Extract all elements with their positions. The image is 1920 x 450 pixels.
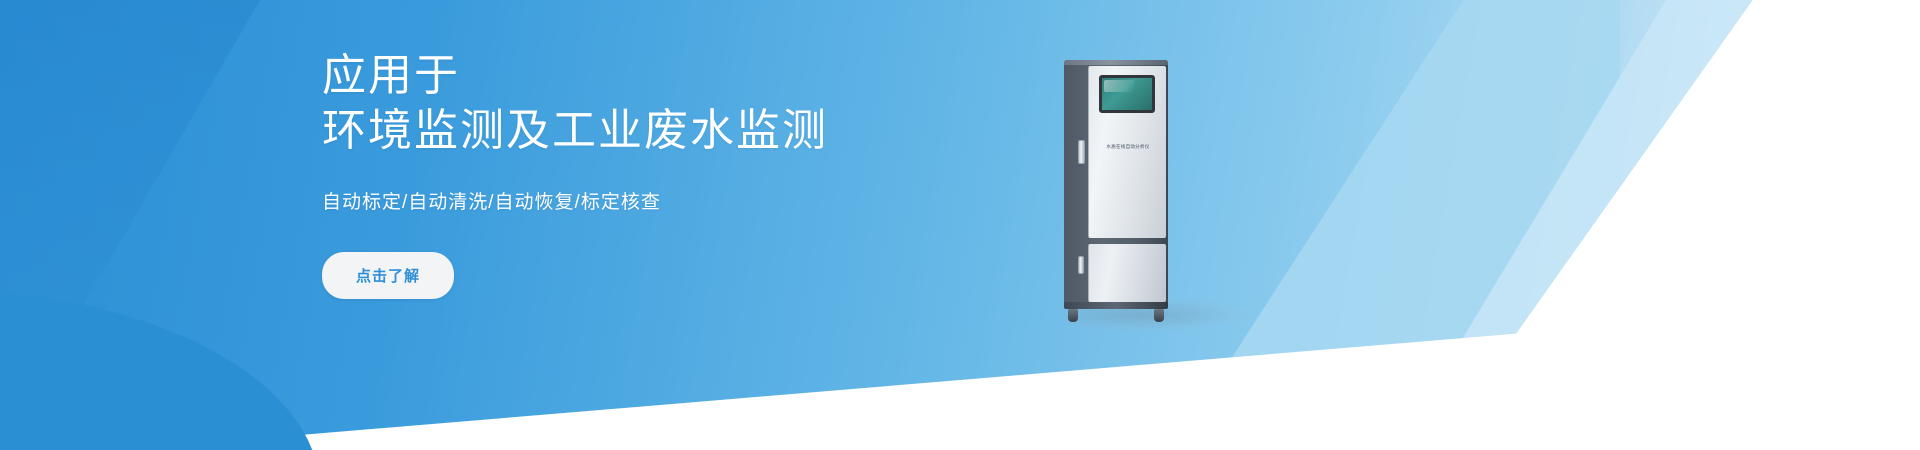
device-caster-left [1068,309,1078,322]
background-shape-bottom-curve [0,290,320,450]
headline-line-1: 应用于 [322,48,1082,103]
hero-banner: 应用于 环境监测及工业废水监测 自动标定/自动清洗/自动恢复/标定核查 点击了解… [0,0,1920,450]
device-display-screen [1099,75,1155,113]
device-upper-handle [1078,140,1085,164]
device-label-text: 水质在线自动分析仪 [1093,144,1163,150]
device-base [1064,302,1168,309]
learn-more-button[interactable]: 点击了解 [322,252,454,299]
background-shape-bottom-white [0,300,1920,450]
device-caster-right [1154,309,1164,322]
background-shape-diagonal-white [1160,0,1920,450]
background-shape-diagonal-pale-2 [1250,0,1770,450]
page-title: 应用于 环境监测及工业废水监测 [322,48,1082,159]
device-upper-door: 水质在线自动分析仪 [1088,66,1166,238]
device-lower-handle [1078,256,1084,274]
banner-content: 应用于 环境监测及工业废水监测 自动标定/自动清洗/自动恢复/标定核查 点击了解 [322,48,1082,299]
headline-line-2: 环境监测及工业废水监测 [322,103,1082,158]
screen-glare [1104,80,1134,92]
banner-subtitle: 自动标定/自动清洗/自动恢复/标定核查 [322,187,1082,214]
device-lower-door [1088,244,1166,302]
product-image-water-analyzer: 水质在线自动分析仪 [1058,60,1258,325]
device-top-edge [1064,60,1168,65]
